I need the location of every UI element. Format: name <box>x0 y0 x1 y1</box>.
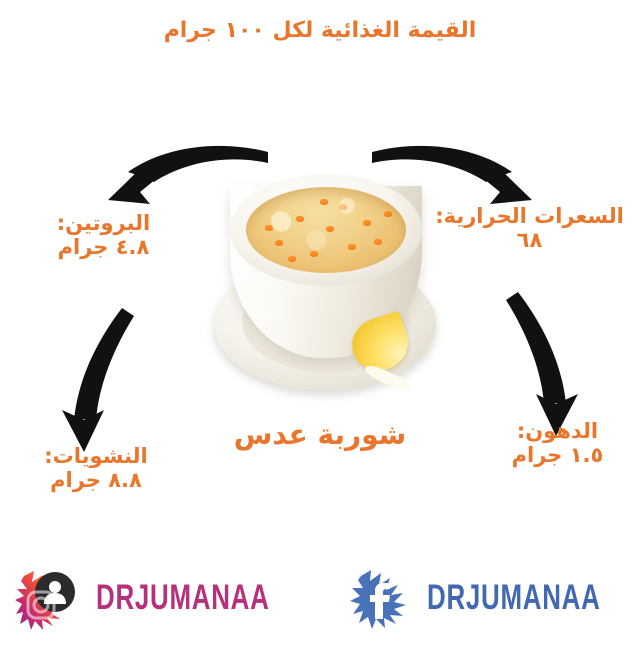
nutrient-carbohydrates-value: ٨.٨ جرام <box>6 469 186 493</box>
instagram-brand[interactable]: DRJUMANAA <box>0 550 331 645</box>
nutrient-calories-value: ٦٨ <box>427 229 632 253</box>
nutrient-calories: السعرات الحرارية: ٦٨ <box>427 205 632 252</box>
instagram-handle: DRJUMANAA <box>96 578 270 618</box>
dish-photo <box>196 168 452 413</box>
facebook-f-icon[interactable] <box>345 562 417 634</box>
infographic-canvas: القيمة الغذائية لكل ١٠٠ جرام <box>0 0 640 645</box>
nutrient-protein-value: ٤.٨ جرام <box>16 236 191 260</box>
nutrient-protein: البروتين: ٤.٨ جرام <box>16 212 191 259</box>
footer-branding: DRJUMANAA DRJUMANAA <box>0 550 640 645</box>
nutrient-carbohydrates: النشويات: ٨.٨ جرام <box>6 445 186 492</box>
facebook-brand[interactable]: DRJUMANAA <box>331 550 640 645</box>
instagram-person-icon[interactable] <box>14 562 86 634</box>
arrow-to-fats <box>506 292 578 436</box>
soup-surface <box>246 187 406 273</box>
nutrient-calories-label: السعرات الحرارية: <box>435 204 624 228</box>
page-title: القيمة الغذائية لكل ١٠٠ جرام <box>0 18 640 43</box>
dish-name: شوربة عدس <box>0 418 640 451</box>
facebook-handle: DRJUMANAA <box>427 578 601 618</box>
nutrient-protein-label: البروتين: <box>57 211 151 235</box>
